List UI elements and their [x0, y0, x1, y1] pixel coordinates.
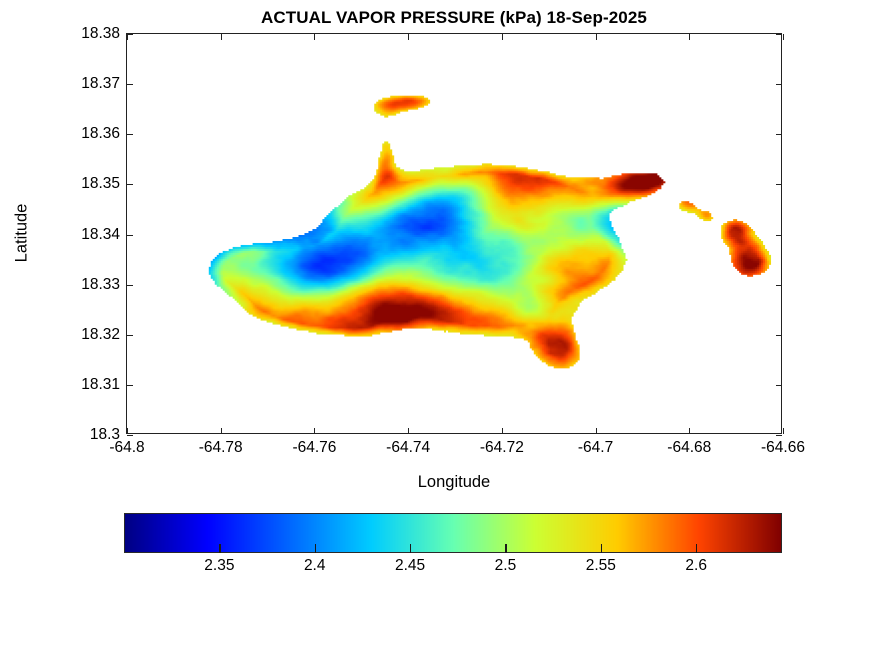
x-tick-mark — [689, 34, 690, 40]
y-tick-label: 18.35 — [81, 175, 120, 193]
x-tick-mark — [408, 34, 409, 40]
x-tick-label: -64.7 — [578, 439, 613, 457]
x-tick-label: -64.72 — [480, 439, 524, 457]
x-tick-label: -64.78 — [199, 439, 243, 457]
colorbar-tick-mark — [505, 544, 506, 553]
y-tick-mark — [776, 235, 782, 236]
colorbar-tick-label: 2.45 — [395, 557, 425, 575]
x-tick-mark — [596, 428, 597, 434]
y-tick-label: 18.34 — [81, 226, 120, 244]
y-tick-label: 18.31 — [81, 376, 120, 394]
x-tick-mark — [783, 428, 784, 434]
map-axes: 18.318.3118.3218.3318.3418.3518.3618.371… — [126, 33, 782, 434]
y-tick-label: 18.32 — [81, 326, 120, 344]
colorbar-tick-label: 2.5 — [495, 557, 517, 575]
colorbar-tick-mark — [219, 544, 220, 553]
x-tick-mark — [127, 34, 128, 40]
y-tick-mark — [776, 335, 782, 336]
x-tick-label: -64.76 — [292, 439, 336, 457]
y-tick-mark — [776, 134, 782, 135]
y-tick-mark — [127, 134, 133, 135]
x-tick-mark — [502, 34, 503, 40]
y-axis-label: Latitude — [13, 204, 32, 263]
y-tick-mark — [127, 435, 133, 436]
y-tick-mark — [127, 335, 133, 336]
x-axis-label: Longitude — [418, 473, 491, 492]
colorbar-tick-mark — [315, 544, 316, 553]
x-tick-label: -64.8 — [109, 439, 144, 457]
chart-title: ACTUAL VAPOR PRESSURE (kPa) 18-Sep-2025 — [126, 8, 782, 28]
y-tick-label: 18.36 — [81, 125, 120, 143]
y-tick-mark — [776, 435, 782, 436]
y-tick-mark — [776, 184, 782, 185]
x-tick-mark — [596, 34, 597, 40]
x-tick-mark — [127, 428, 128, 434]
colorbar: 2.352.42.452.52.552.6 — [124, 513, 782, 553]
colorbar-tick-label: 2.6 — [685, 557, 707, 575]
colorbar-tick-label: 2.35 — [204, 557, 234, 575]
y-tick-label: 18.37 — [81, 75, 120, 93]
y-tick-mark — [127, 84, 133, 85]
y-tick-mark — [127, 285, 133, 286]
x-tick-mark — [221, 34, 222, 40]
vapor-pressure-heatmap — [127, 34, 781, 433]
x-tick-mark — [783, 34, 784, 40]
colorbar-tick-label: 2.4 — [304, 557, 326, 575]
y-tick-mark — [127, 385, 133, 386]
y-tick-mark — [127, 235, 133, 236]
x-tick-mark — [502, 428, 503, 434]
colorbar-tick-mark — [601, 544, 602, 553]
x-tick-mark — [314, 428, 315, 434]
y-tick-label: 18.38 — [81, 25, 120, 43]
colorbar-gradient — [124, 513, 782, 553]
x-tick-mark — [408, 428, 409, 434]
y-tick-mark — [127, 184, 133, 185]
x-tick-mark — [689, 428, 690, 434]
x-tick-label: -64.68 — [667, 439, 711, 457]
y-tick-mark — [776, 84, 782, 85]
y-tick-label: 18.33 — [81, 276, 120, 294]
x-tick-label: -64.74 — [386, 439, 430, 457]
x-tick-mark — [221, 428, 222, 434]
y-tick-mark — [776, 385, 782, 386]
y-tick-mark — [776, 285, 782, 286]
x-tick-mark — [314, 34, 315, 40]
colorbar-tick-mark — [696, 544, 697, 553]
x-tick-label: -64.66 — [761, 439, 805, 457]
y-tick-mark — [776, 34, 782, 35]
colorbar-tick-mark — [410, 544, 411, 553]
colorbar-tick-label: 2.55 — [586, 557, 616, 575]
figure-canvas: ACTUAL VAPOR PRESSURE (kPa) 18-Sep-2025 … — [0, 0, 875, 656]
